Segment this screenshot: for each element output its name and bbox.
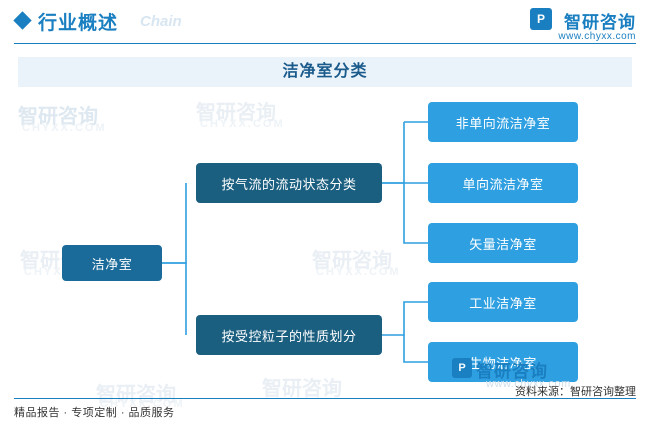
diagram-node-leaf-3[interactable]: 矢量洁净室 [428,223,578,263]
brand-url[interactable]: www.chyxx.com [558,31,636,42]
diamond-icon [13,11,31,29]
chart-title-band: 洁净室分类 [18,57,632,87]
header-divider [14,43,636,44]
clean-room-classification-diagram: 洁净室 按气流的流动状态分类 按受控粒子的性质划分 非单向流洁净室 单向流洁净室… [0,90,650,390]
page-title: 行业概述 [38,8,118,35]
diagram-node-leaf-2[interactable]: 单向流洁净室 [428,163,578,203]
footer-text: 精品报告 · 专项定制 · 品质服务 [14,404,175,420]
footer-divider [14,398,636,399]
page-subtitle: Chain [140,13,182,30]
chart-title: 洁净室分类 [18,57,632,87]
diagram-node-leaf-4[interactable]: 工业洁净室 [428,282,578,322]
diagram-node-root[interactable]: 洁净室 [62,245,162,281]
diagram-node-branch-2[interactable]: 按受控粒子的性质划分 [196,315,382,355]
page-header: 行业概述 Chain P 智研咨询 www.chyxx.com [0,0,650,44]
brand-logo-icon: P [530,8,552,30]
brand-name: 智研咨询 [564,8,636,33]
source-note: 资料来源：智研咨询整理 [515,383,636,399]
footer-brand-logo-icon: P [452,358,472,378]
diagram-node-branch-1[interactable]: 按气流的流动状态分类 [196,163,382,203]
diagram-node-leaf-1[interactable]: 非单向流洁净室 [428,102,578,142]
